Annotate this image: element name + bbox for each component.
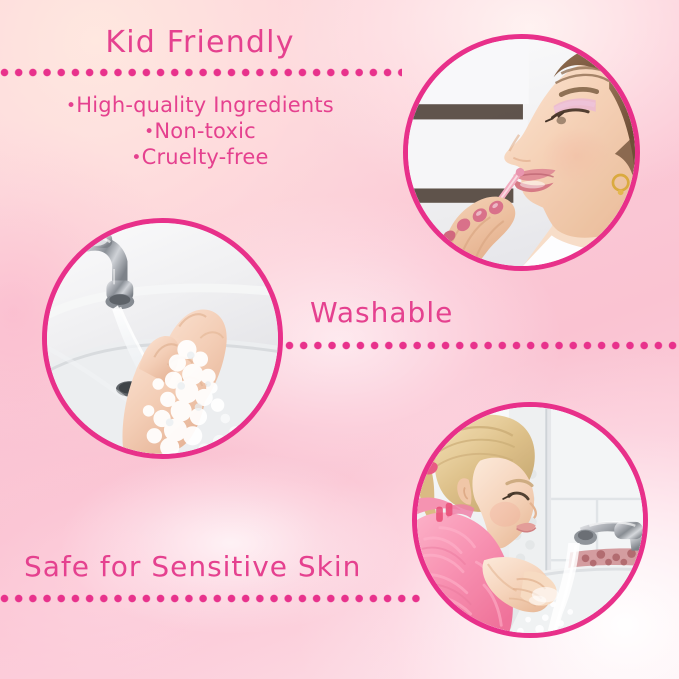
photo-circle-handwashing: [42, 218, 283, 459]
feature-bullet-list: •High-quality Ingredients •Non-toxic •Cr…: [0, 93, 400, 171]
list-item: •Non-toxic: [0, 119, 400, 145]
heading-washable: Washable: [310, 299, 453, 327]
list-item: •High-quality Ingredients: [0, 93, 400, 119]
list-item-label: Cruelty-free: [142, 145, 269, 169]
photo-image-lip-gloss: [408, 39, 635, 266]
heading-kid-friendly: Kid Friendly: [0, 28, 400, 58]
photo-image-handwashing: [47, 223, 278, 454]
dotted-divider-middle: [285, 341, 679, 350]
photo-circle-girl-washing-hands: [412, 402, 648, 638]
list-item: •Cruelty-free: [0, 145, 400, 171]
bullet-dot-icon: •: [66, 96, 76, 116]
photo-circle-lip-gloss: [403, 34, 640, 271]
bullet-dot-icon: •: [131, 148, 141, 168]
list-item-label: Non-toxic: [154, 119, 256, 143]
dotted-divider-top: [0, 68, 402, 77]
photo-image-girl-washing-hands: [417, 407, 643, 633]
heading-safe-for-sensitive-skin: Safe for Sensitive Skin: [24, 553, 361, 581]
product-feature-infographic: Kid Friendly •High-quality Ingredients •…: [0, 0, 679, 679]
dotted-divider-bottom: [0, 594, 424, 603]
bullet-dot-icon: •: [144, 122, 154, 142]
list-item-label: High-quality Ingredients: [76, 93, 334, 117]
